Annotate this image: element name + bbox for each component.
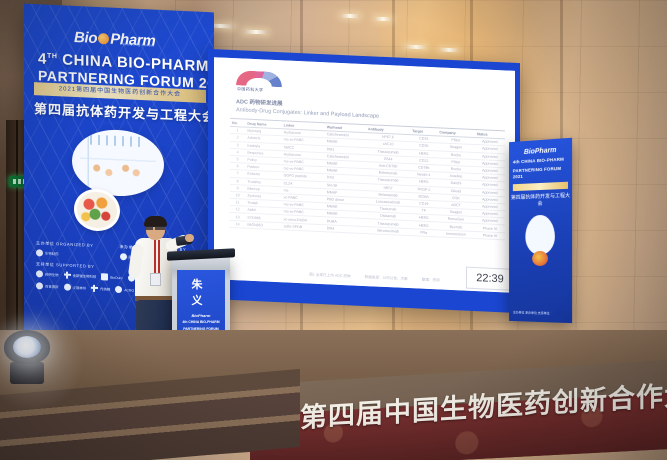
sponsor-logo: 生物制药 [36,249,59,257]
rollup-chinese-title: 第四届抗体药开发与工程大会 [509,192,572,208]
slide-institution-logo: 中国药科大学 [236,70,282,96]
sponsor-logo: 金斯瑞生物科技 [64,271,97,279]
ceiling-strip-light [340,14,360,19]
speaker-lanyard [150,240,163,274]
biopharm-logo: Bio Pharm [74,24,166,54]
rollup-banner: BioPharm 4th CHINA BIO-PHARM PARTNERING … [509,138,572,323]
rollup-logo: BioPharm [521,147,560,157]
light-lens-icon [13,336,41,358]
logo-dot-icon [98,33,109,44]
sponsor-mark-icon [91,285,98,292]
sponsor-mark-icon [120,253,127,260]
sponsor-logo: 丹纳赫 [91,285,110,293]
stage-moving-light [4,330,50,388]
table-cell: Phase III [475,231,505,240]
sponsor-name: BioDuro [110,275,122,280]
table-cell: FRα [410,228,437,236]
slide-note: 数据来源：公司公告、文献 [365,275,408,282]
slide-logo-caption: 中国药科大学 [237,86,263,93]
table-cell: ImmunoGen [437,229,474,238]
table-body: 1MylotargHydrazoneCalicheamicinhP67.6CD3… [230,127,505,240]
sponsor-logo: 义翘神州 [64,283,87,291]
sponsor-name: 丹纳赫 [100,286,110,291]
cells-graphic [77,191,117,229]
sponsor-mark-icon [36,270,43,277]
table-cell: IMGN853 [245,221,281,230]
organized-by-label: 主办单位 ORGANIZED BY [36,240,94,249]
speaker-right-hand [185,234,194,242]
slide-note: 整理：药研 [422,278,440,284]
sponsor-logo: BioDuro [101,273,122,281]
sponsor-name: 药明生物 [45,272,59,278]
slide-note: 图1 全球已上市 ADC 药物 [309,273,350,280]
sponsor-mark-icon [115,286,122,293]
table-cell: 14 [230,220,245,228]
led-presentation-screen: 中国药科大学 ADC 药物研发进展 Antibody-Drug Conjugat… [208,49,520,313]
sponsor-mark-icon [101,273,108,280]
light-base [10,362,44,384]
ceiling-strip-light [374,17,392,22]
sponsor-name: 百普赛斯 [45,284,59,290]
slide-area: 中国药科大学 ADC 药物研发进展 Antibody-Drug Conjugat… [214,57,515,293]
sponsor-mark-icon [64,271,71,278]
podium-line1: 4th CHINA BIO-PHARM [180,320,222,325]
sponsor-name: 金斯瑞生物科技 [73,273,97,279]
sponsor-logo: 药明生物 [36,270,59,278]
adc-drug-table: No. Drug Name Linker Warhead Antibody Ta… [230,119,505,240]
rollup-footer: 主办单位 承办单位 支持单位 [513,310,568,317]
speaker-glasses [146,226,165,230]
table-cell: sulfo-SPDB [282,222,325,231]
podium-speaker-name: 朱 义 [177,276,225,308]
sponsor-mark-icon [36,249,43,256]
ceiling-strip-light [438,48,460,53]
speaker-badge [150,273,161,286]
sponsor-mark-icon [36,282,43,289]
table-cell: DM4 [325,224,366,233]
countdown-timer: 22:39 [466,267,514,291]
slide-footer-notes: 图1 全球已上市 ADC 药物 数据来源：公司公告、文献 整理：药研 [254,270,495,286]
sponsor-logo: 百普赛斯 [36,282,59,290]
sponsor-name: 生物制药 [45,251,59,257]
table-cell: Mirvetuximab [366,226,410,235]
slide-data-table: No. Drug Name Linker Warhead Antibody Ta… [230,118,505,266]
rollup-line2: PARTNERING FORUM 2021 [513,165,568,180]
rollup-line1: 4th CHINA BIO-PHARM [513,156,568,165]
logo-text-bio: Bio [74,28,97,46]
rollup-gold-band [513,182,568,191]
rollup-illustration-secondary [532,251,548,266]
science-diagram-graphic [80,136,156,189]
sponsor-name: 义翘神州 [73,285,87,291]
podium-logo: BioPharm [177,313,225,318]
rollup-illustration [525,215,555,255]
screenshot-root: Bio Pharm Partnering Forum 4TH CHINA BIO… [0,0,667,460]
arc-logo-icon [236,70,282,87]
sponsor-mark-icon [64,283,71,290]
presentation-slide: 中国药科大学 ADC 药物研发进展 Antibody-Drug Conjugat… [214,57,515,293]
